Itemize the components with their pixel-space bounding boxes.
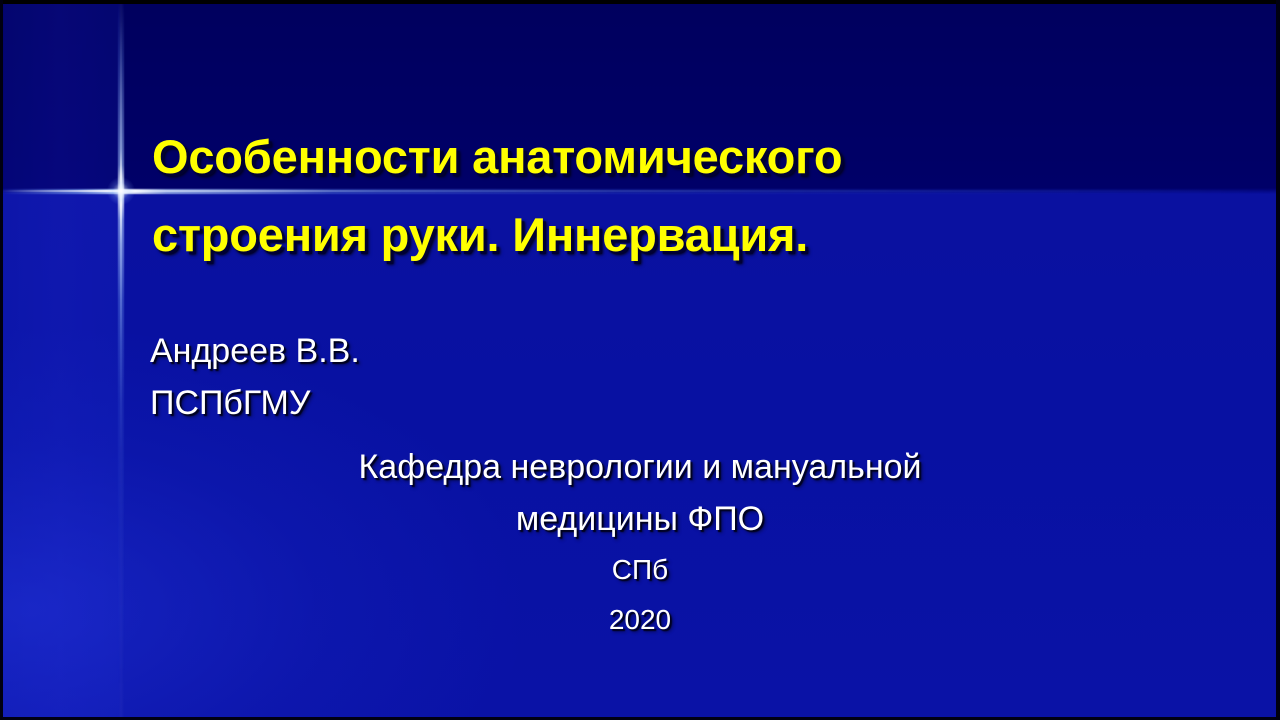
institution-name: ПСПбГМУ (150, 377, 1130, 429)
year-label: 2020 (150, 595, 1130, 645)
body-spacer (150, 429, 1130, 441)
department-line-1: Кафедра неврологии и мануальной (150, 441, 1130, 493)
slide-title-line-1: Особенности анатомического (152, 118, 1152, 196)
slide-content: Особенности анатомического строения руки… (0, 0, 1280, 720)
author-name: Андреев В.В. (150, 325, 1130, 377)
slide-title: Особенности анатомического строения руки… (152, 118, 1152, 274)
city-label: СПб (150, 545, 1130, 595)
presentation-slide: Особенности анатомического строения руки… (0, 0, 1280, 720)
slide-title-line-2: строения руки. Иннервация. (152, 196, 1152, 274)
department-line-2: медицины ФПО (150, 493, 1130, 545)
slide-body: Андреев В.В. ПСПбГМУ Кафедра неврологии … (150, 325, 1130, 645)
